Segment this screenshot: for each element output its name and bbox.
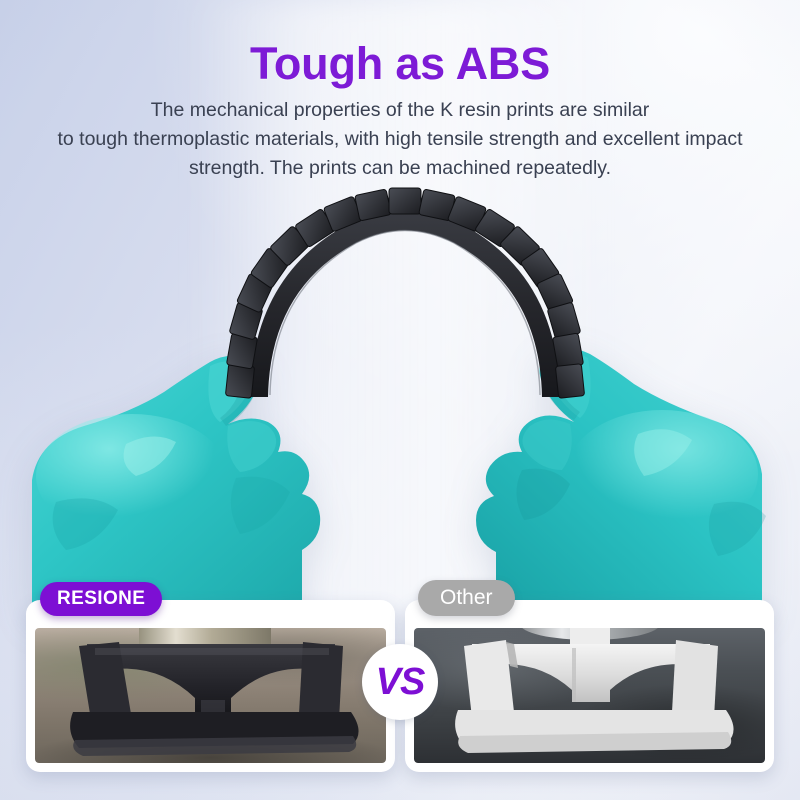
resione-test-photo xyxy=(35,628,386,763)
badge-other: Other xyxy=(418,580,515,616)
comparison-section: RESIONE Other VS xyxy=(26,600,774,772)
flexible-printed-part xyxy=(210,185,600,415)
description-line-2: to tough thermoplastic materials, with h… xyxy=(0,125,800,154)
description-line-3: strength. The prints can be machined rep… xyxy=(0,154,800,183)
other-part-illustration xyxy=(414,628,765,763)
resione-part-illustration xyxy=(35,628,386,763)
description-line-1: The mechanical properties of the K resin… xyxy=(0,96,800,125)
other-test-photo xyxy=(414,628,765,763)
comparison-panel-other[interactable] xyxy=(405,600,774,772)
promo-banner: Tough as ABS The mechanical properties o… xyxy=(0,0,800,800)
description-text: The mechanical properties of the K resin… xyxy=(0,96,800,183)
versus-badge: VS xyxy=(362,644,438,720)
badge-resione: RESIONE xyxy=(40,582,162,616)
comparison-panel-resione[interactable] xyxy=(26,600,395,772)
page-title: Tough as ABS xyxy=(0,38,800,90)
